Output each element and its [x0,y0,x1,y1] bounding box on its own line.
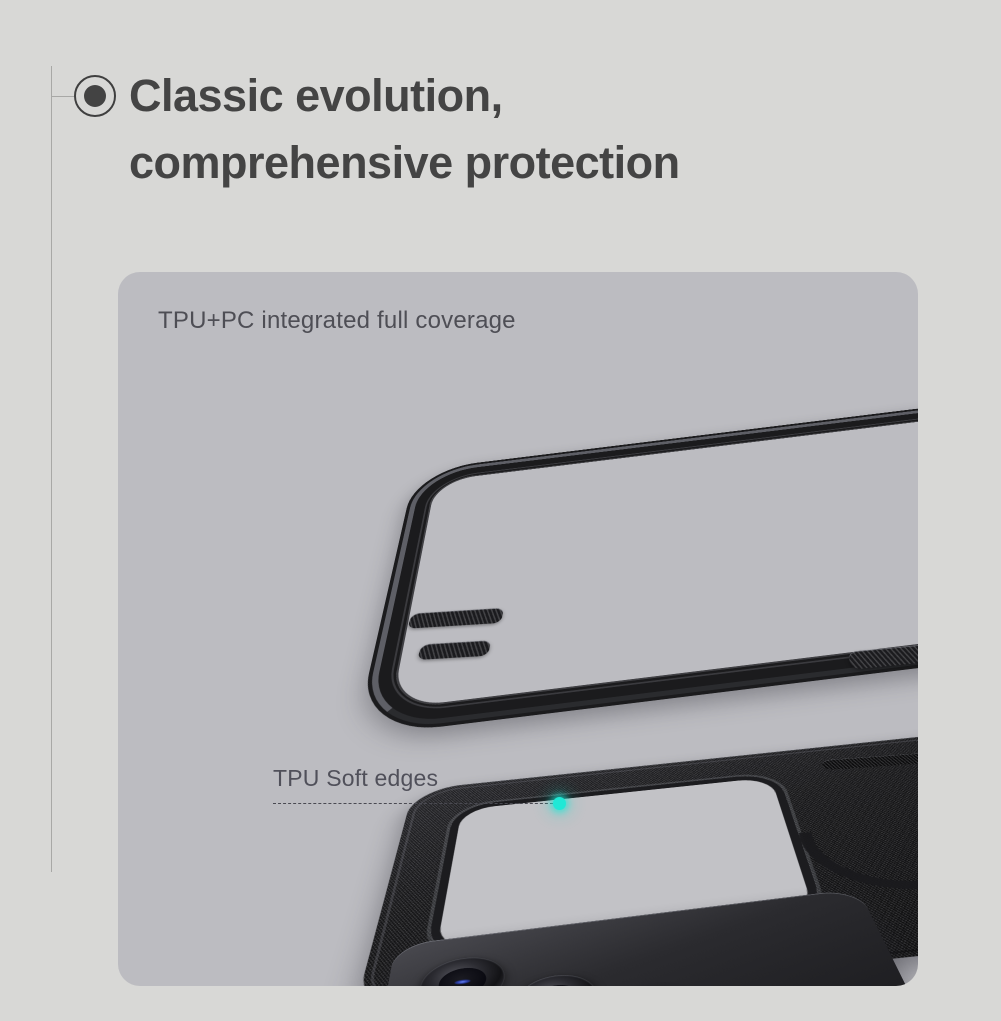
page-title: Classic evolution, comprehensive protect… [129,62,849,196]
tpu-frame-ring [354,401,918,737]
left-rail-tick [52,96,74,97]
camera-lens-2-glass [534,983,580,986]
callout-tpu-soft-edges: TPU Soft edges [273,742,573,812]
callout-tpu-soft-edges-line [273,803,558,804]
feature-card: TPU+PC integrated full coverage [118,272,918,986]
camera-lens-1-glass [437,965,487,986]
product-illustration [118,272,918,986]
callout-tpu-soft-edges-label: TPU Soft edges [273,765,438,792]
camera-lens-3 [611,983,700,986]
page-title-line-2: comprehensive protection [129,129,849,196]
target-dot-icon [74,75,116,117]
callout-tpu-soft-edges-dot [553,797,566,810]
tpu-bumper-frame-part [354,401,918,737]
camera-lens-2 [516,971,599,986]
card-caption: TPU+PC integrated full coverage [158,307,516,335]
pc-board-button-cutout [821,752,918,771]
left-rail-vertical-line [51,66,52,872]
page-title-line-1: Classic evolution, [129,62,849,129]
header-section: Classic evolution, comprehensive protect… [0,0,1001,272]
camera-lens-1 [417,953,506,986]
camera-lens-1-flare [454,979,470,985]
target-dot-icon-center [84,85,106,107]
